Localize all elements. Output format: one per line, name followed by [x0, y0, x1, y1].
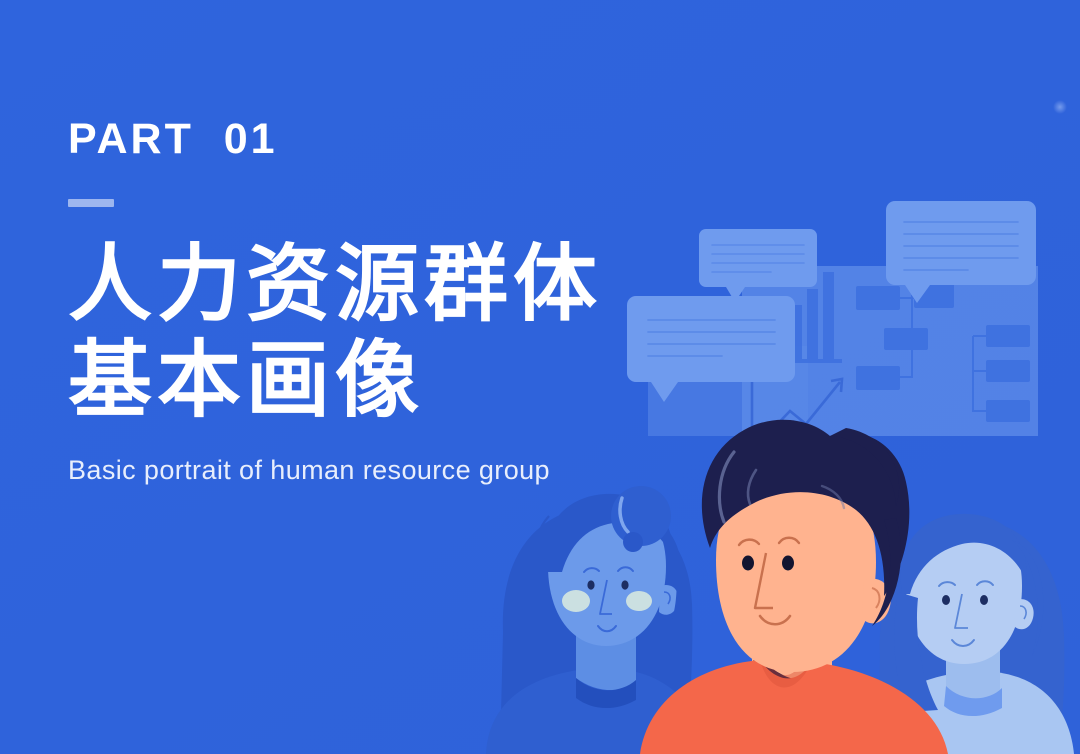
- page-title: 人力资源群体 基本画像: [68, 237, 668, 429]
- page-title-line1: 人力资源群体: [68, 237, 602, 331]
- accent-dash-divider: [68, 199, 114, 207]
- title-text-block: PART 01 人力资源群体 基本画像 Basic portrait of hu…: [68, 118, 668, 486]
- page-title-line2: 基本画像: [68, 333, 668, 429]
- glow-dot-decoration: [1053, 100, 1067, 114]
- slide-canvas: PART 01 人力资源群体 基本画像 Basic portrait of hu…: [0, 0, 1080, 754]
- page-subtitle: Basic portrait of human resource group: [68, 455, 668, 486]
- part-label: PART 01: [68, 118, 668, 161]
